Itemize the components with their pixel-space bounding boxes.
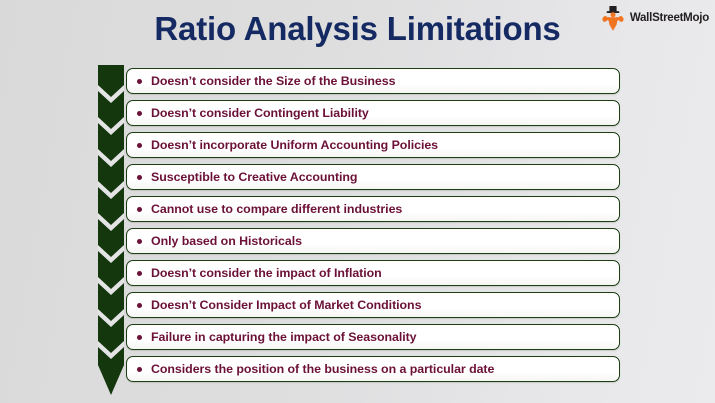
brand-name: WallStreetMojo [630, 12, 709, 24]
list-item[interactable]: Failure in capturing the impact of Seaso… [126, 324, 620, 350]
bullet-icon [137, 143, 142, 148]
list-item-label: Doesn’t Consider Impact of Market Condit… [151, 298, 421, 312]
bullet-icon [137, 303, 142, 308]
list-item-label: Doesn’t consider Contingent Liability [151, 106, 369, 120]
slide-header: Ratio Analysis Limitations WallStreetMoj… [0, 0, 715, 62]
bullet-icon [137, 207, 142, 212]
list-item[interactable]: Susceptible to Creative Accounting [126, 164, 620, 190]
list-item[interactable]: Doesn’t incorporate Uniform Accounting P… [126, 132, 620, 158]
list-item-label: Doesn’t consider the Size of the Busines… [151, 74, 395, 88]
list-item[interactable]: Considers the position of the business o… [126, 356, 620, 382]
bullet-icon [137, 271, 142, 276]
list-item-label: Doesn’t incorporate Uniform Accounting P… [151, 138, 438, 152]
list-item[interactable]: Cannot use to compare different industri… [126, 196, 620, 222]
bullet-icon [137, 367, 142, 372]
list-item-label: Considers the position of the business o… [151, 362, 494, 376]
list-item-label: Failure in capturing the impact of Seaso… [151, 330, 417, 344]
brand-logo: WallStreetMojo [599, 4, 709, 32]
bullet-icon [137, 175, 142, 180]
list-item-label: Doesn’t consider the impact of Inflation [151, 266, 382, 280]
list-item-label: Susceptible to Creative Accounting [151, 170, 357, 184]
list-item[interactable]: Doesn’t consider the Size of the Busines… [126, 68, 620, 94]
list-item[interactable]: Doesn’t Consider Impact of Market Condit… [126, 292, 620, 318]
list-item[interactable]: Only based on Historicals [126, 228, 620, 254]
bullet-icon [137, 111, 142, 116]
list-item-label: Cannot use to compare different industri… [151, 202, 402, 216]
list-item-label: Only based on Historicals [151, 234, 302, 248]
strongman-tophat-icon [599, 5, 627, 32]
limitation-list: Doesn’t consider the Size of the Busines… [126, 68, 620, 382]
chevron-down-stack-icon [96, 65, 130, 397]
bullet-icon [137, 79, 142, 84]
bullet-icon [137, 239, 142, 244]
bullet-icon [137, 335, 142, 340]
list-item[interactable]: Doesn’t consider Contingent Liability [126, 100, 620, 126]
list-item[interactable]: Doesn’t consider the impact of Inflation [126, 260, 620, 286]
